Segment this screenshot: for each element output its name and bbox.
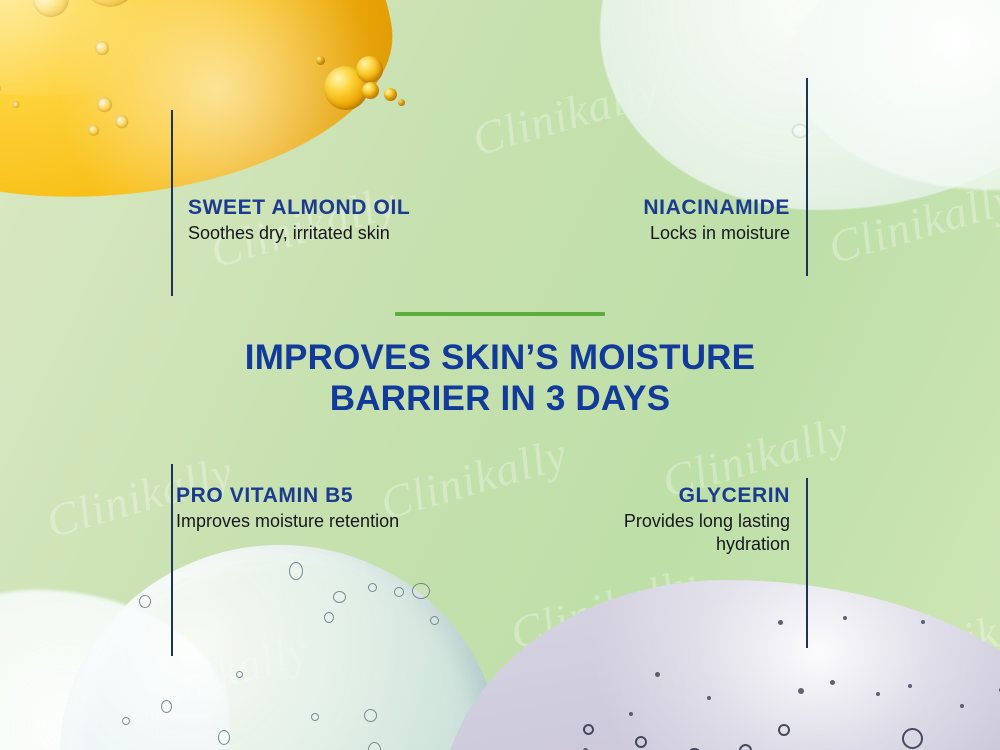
oil-satellite-bubble — [384, 88, 397, 101]
pro-vitamin-b5-foam-image — [0, 590, 230, 750]
headline-block: IMPROVES SKIN’S MOISTURE BARRIER IN 3 DA… — [0, 312, 1000, 420]
niacinamide-cream-image — [600, 0, 1000, 210]
oil-satellite-bubble — [356, 56, 383, 83]
ingredient-name: NIACINAMIDE — [470, 196, 790, 220]
oil-satellite-bubble — [362, 82, 379, 99]
connector-line-sweet-almond-oil — [171, 110, 173, 296]
divider-rule — [395, 312, 605, 316]
page-title: IMPROVES SKIN’S MOISTURE BARRIER IN 3 DA… — [0, 338, 1000, 420]
ingredient-description: Improves moisture retention — [176, 510, 506, 533]
ingredient-infographic: Clinikally Clinikally Clinikally Clinika… — [0, 0, 1000, 750]
headline-line-1: IMPROVES SKIN’S MOISTURE — [245, 338, 755, 377]
headline-line-2: BARRIER IN 3 DAYS — [330, 379, 671, 418]
callout-niacinamide: NIACINAMIDE Locks in moisture — [470, 196, 790, 245]
callout-glycerin: GLYCERIN Provides long lasting hydration — [490, 484, 790, 556]
watermark-text: Clinikally — [116, 623, 315, 727]
ingredient-description: Locks in moisture — [470, 222, 790, 245]
ingredient-name: SWEET ALMOND OIL — [188, 196, 508, 220]
niacinamide-cream-swirl-image — [790, 0, 1000, 190]
callout-pro-vitamin-b5: PRO VITAMIN B5 Improves moisture retenti… — [176, 484, 506, 533]
ingredient-description: Soothes dry, irritated skin — [188, 222, 508, 245]
oil-satellite-bubble — [398, 99, 405, 106]
connector-line-niacinamide — [806, 78, 808, 276]
ingredient-description: Provides long lasting — [490, 510, 790, 533]
connector-line-pro-vitamin-b5 — [171, 464, 173, 656]
glycerin-gel-image — [440, 580, 1000, 750]
oil-satellite-bubble — [316, 56, 325, 65]
watermark-text: Clinikally — [466, 63, 665, 167]
sweet-almond-oil-droplet-image — [0, 0, 408, 228]
ingredient-description: hydration — [490, 533, 790, 556]
ingredient-name: PRO VITAMIN B5 — [176, 484, 506, 508]
ingredient-name: GLYCERIN — [490, 484, 790, 508]
pro-vitamin-b5-gel-image — [60, 545, 500, 750]
connector-line-glycerin — [806, 478, 808, 648]
watermark-text: Clinikally — [822, 171, 1000, 275]
watermark-text: Clinikally — [876, 585, 1000, 689]
watermark-text: Clinikally — [504, 557, 703, 661]
callout-sweet-almond-oil: SWEET ALMOND OIL Soothes dry, irritated … — [188, 196, 508, 245]
